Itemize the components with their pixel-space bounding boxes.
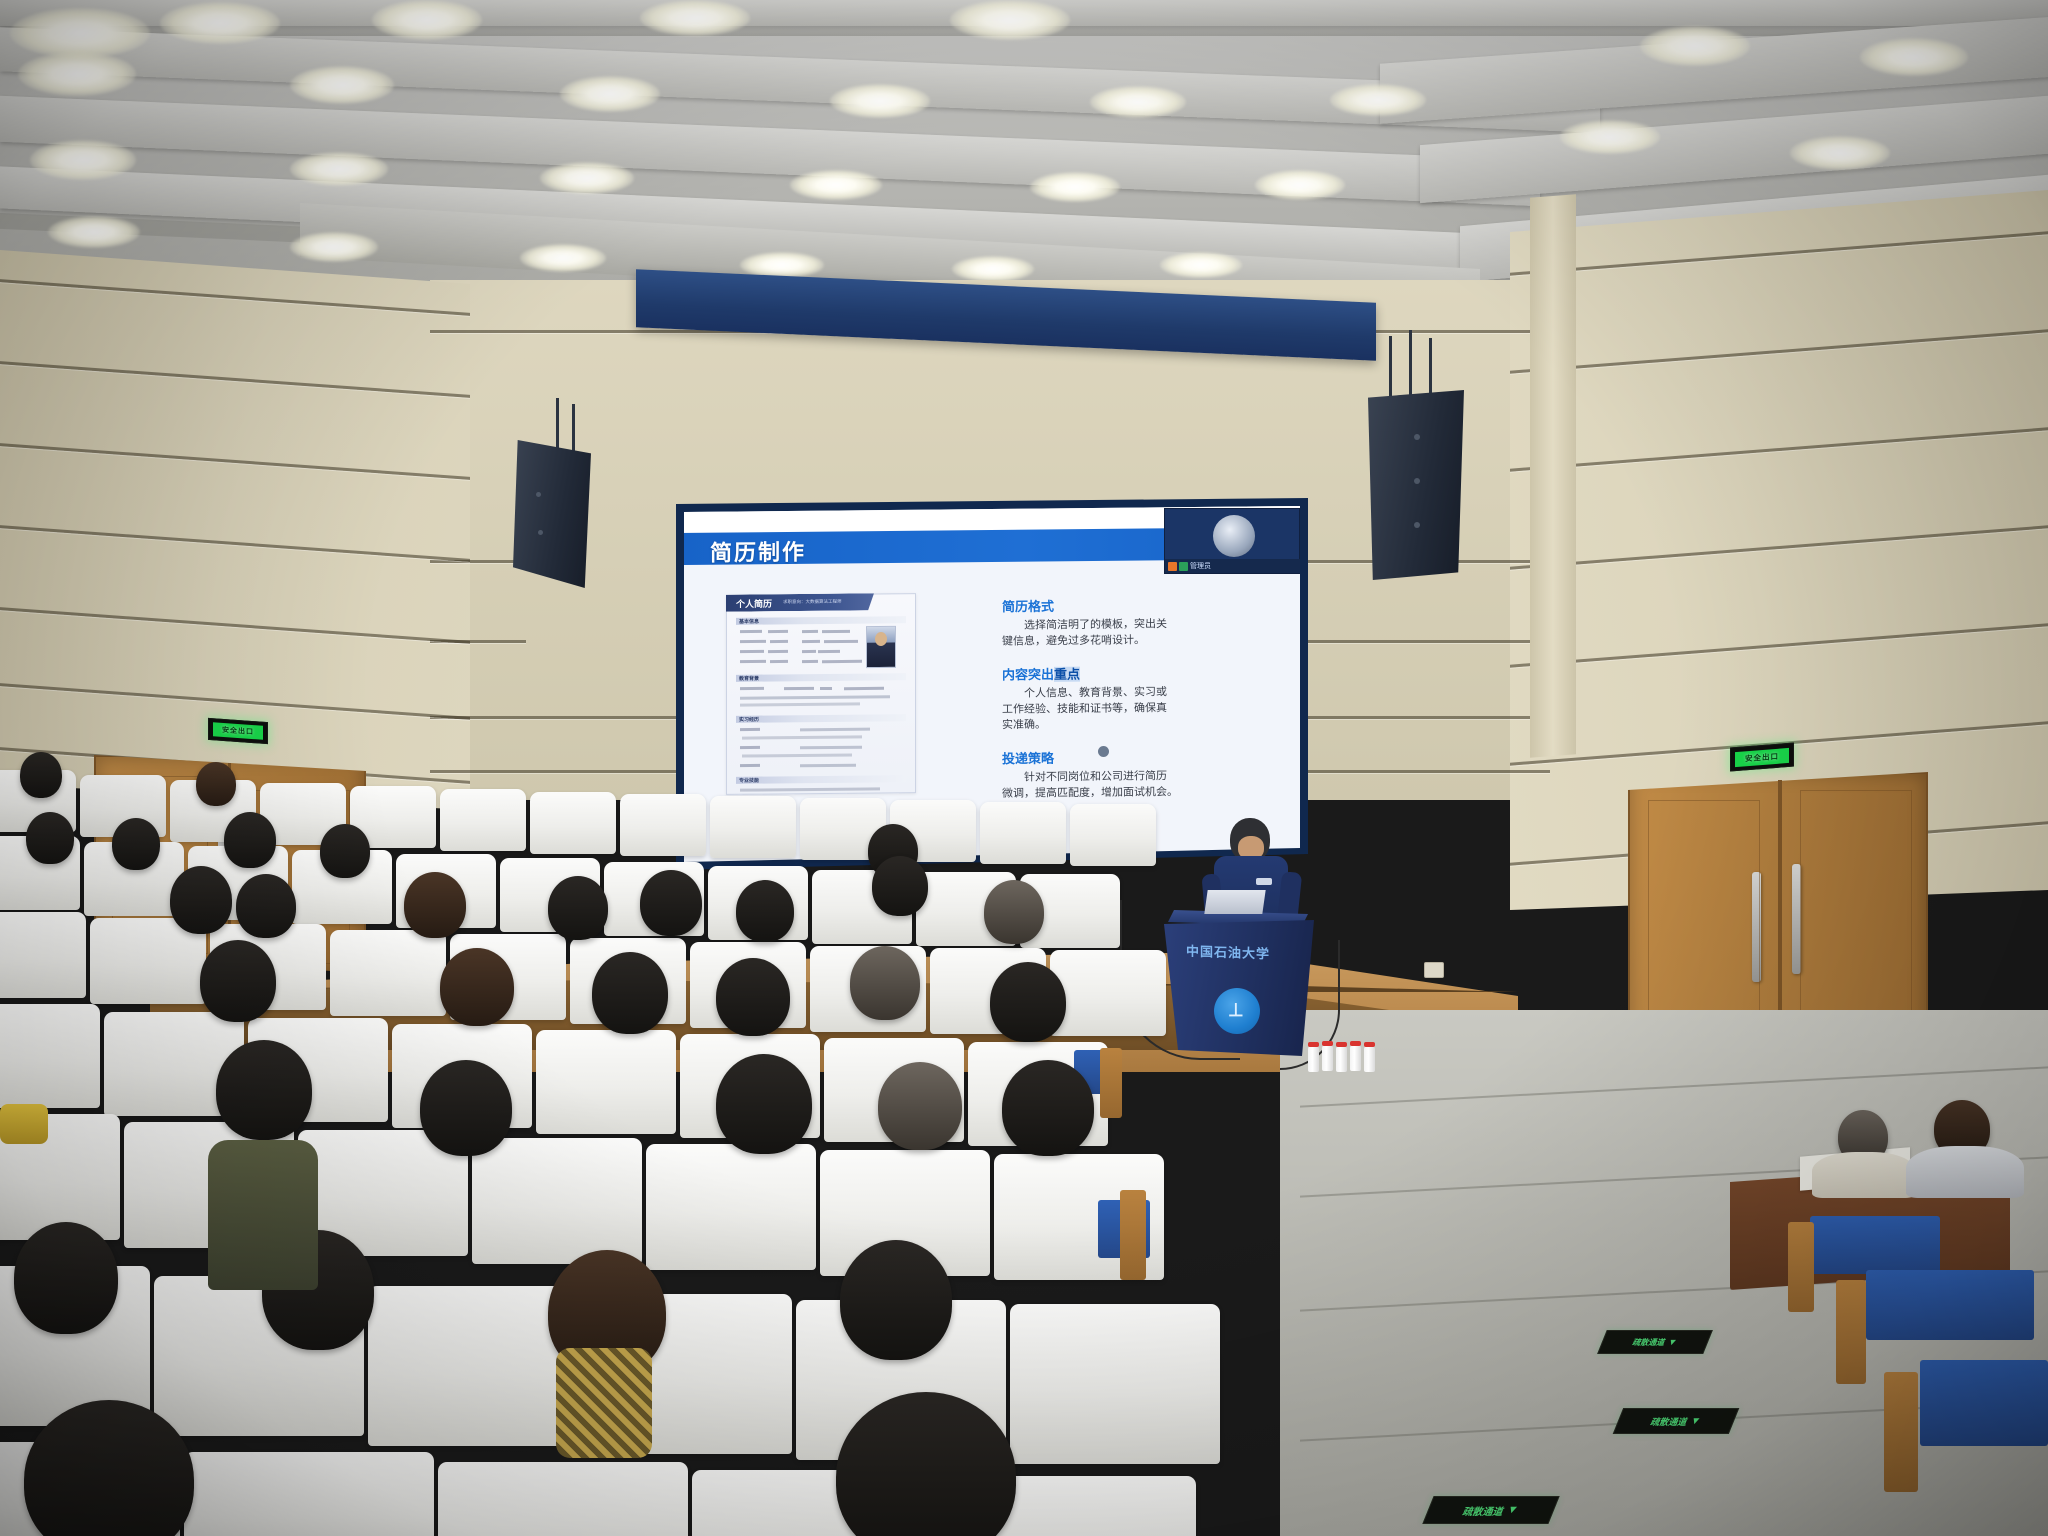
attendee-jacket-olive [208, 1140, 318, 1290]
ceiling-light [10, 8, 150, 58]
participant-avatar [1213, 515, 1255, 557]
floor-evacuation-sign-1: 疏散通道 ▼ [1597, 1330, 1713, 1354]
resume-text-line [820, 687, 832, 690]
resume-text-line [802, 660, 818, 663]
seat-armrest [1100, 1048, 1122, 1118]
seat-cover [710, 796, 796, 858]
seat-cover [472, 1138, 642, 1264]
ceiling-light [372, 0, 482, 40]
participant-name: 管理员 [1190, 561, 1211, 571]
attendee-head [990, 962, 1066, 1042]
speaker-antenna [1389, 336, 1392, 398]
attendee-head [1002, 1060, 1094, 1156]
exit-sign-right: 安全出口 [1730, 743, 1794, 772]
resume-text-line [802, 630, 818, 633]
ceiling-light [290, 66, 394, 104]
slide-body-2-line-1: 个人信息、教育背景、实习或 [1002, 683, 1167, 701]
ceiling-light [48, 216, 140, 248]
resume-card-header-sub: 求职意向：大数据算法工程师 [783, 599, 842, 606]
slide-body-2-line-3: 实准确。 [1002, 716, 1046, 732]
attendee-head [320, 824, 370, 878]
speaker-antenna [1409, 330, 1412, 398]
seat-cover [530, 792, 616, 854]
door-right-panel [1800, 790, 1912, 1042]
speaker-dot [536, 492, 541, 497]
resume-text-line [822, 660, 862, 663]
ceiling-light [1860, 38, 1968, 76]
attendee-head [236, 874, 296, 938]
resume-text-line [740, 660, 766, 663]
attendee-head [640, 870, 702, 936]
speaker-antenna [1429, 338, 1432, 398]
attendee-head [736, 880, 794, 942]
slide-body-2-line-2: 工作经验、技能和证书等，确保真 [1002, 699, 1167, 717]
resume-section-label: 教育背景 [739, 674, 759, 681]
speaker-dot [1414, 478, 1420, 484]
ceiling-light [830, 84, 930, 118]
slide-heading-2-highlight: 重点 [1054, 667, 1080, 682]
attendee-head [420, 1060, 512, 1156]
arrow-down-icon: ▼ [1666, 1337, 1679, 1347]
bottle-cap [1364, 1042, 1375, 1047]
wall-pilaster [1530, 194, 1576, 758]
arrow-down-icon: ▼ [1688, 1416, 1702, 1427]
video-conference-overlay: 管理员 [1164, 508, 1300, 574]
attendee-head [224, 812, 276, 868]
ceiling-light [520, 244, 606, 272]
ceiling-light [640, 0, 750, 36]
attendee-head [196, 762, 236, 806]
ceiling-light [1030, 172, 1120, 202]
resume-photo-head [875, 632, 887, 646]
slide-body-3-line-1: 针对不同岗位和公司进行简历 [1002, 767, 1167, 785]
slide-title: 简历制作 [710, 535, 806, 568]
ceiling-light [1255, 170, 1345, 200]
speaker-dot [1414, 522, 1420, 528]
seat-cover [1070, 804, 1156, 866]
loudspeaker-right [1368, 390, 1464, 580]
floor-evacuation-sign-3: 疏散通道 ▼ [1422, 1496, 1559, 1524]
seat-cover [438, 1462, 688, 1536]
attendee-head [878, 1062, 962, 1150]
water-bottle [1350, 1045, 1361, 1071]
resume-section-label: 专业技能 [739, 776, 759, 783]
slide-heading-1: 简历格式 [1002, 596, 1054, 615]
side-seat-arm [1884, 1372, 1918, 1492]
resume-text-line [740, 728, 760, 731]
exit-sign-right-label: 安全出口 [1735, 747, 1789, 766]
presenter-laptop [1204, 890, 1265, 914]
side-seat-arm [1788, 1222, 1814, 1312]
seat-cover [330, 930, 446, 1016]
side-seat-arm [1836, 1280, 1866, 1384]
video-overlay-toolbar[interactable]: 管理员 [1165, 559, 1300, 573]
loudspeaker-left [513, 440, 591, 588]
attendee-head [548, 876, 608, 940]
attendee-head [440, 948, 514, 1026]
ceiling-light [1640, 26, 1750, 66]
slide-heading-3: 投递策略 [1002, 748, 1054, 767]
seat-cover [440, 789, 526, 851]
attendee-head [26, 812, 74, 864]
ceiling-light [1160, 252, 1242, 278]
arrow-down-icon: ▼ [1505, 1504, 1521, 1516]
attendee-head [112, 818, 160, 870]
seat-cover [0, 1004, 100, 1108]
seat-armrest [1120, 1190, 1146, 1280]
podium-university-name: 中国石油大学 [1186, 941, 1270, 963]
seat-cover [368, 1286, 578, 1446]
slide-body-3-line-2: 微调，提高匹配度，增加面试机会。 [1002, 783, 1178, 801]
remote-cursor-avatar [1098, 746, 1109, 757]
slide-body-1-line-1: 选择简洁明了的模板，突出关 [1002, 615, 1167, 633]
attendee-head [20, 752, 62, 798]
ceiling-light [1560, 120, 1660, 154]
bottle-cap [1350, 1041, 1361, 1046]
resume-text-line [740, 640, 766, 643]
resume-text-line [740, 650, 764, 653]
resume-section-label: 基本信息 [739, 617, 759, 624]
attendee-head [200, 940, 276, 1022]
floor-evacuation-sign-1-label: 疏散通道 [1631, 1337, 1667, 1348]
resume-text-line [770, 660, 788, 663]
speaker-antenna [556, 398, 559, 454]
ceiling-light [290, 152, 388, 186]
ceiling-light [950, 0, 1070, 40]
lecture-hall-photo: 简历制作 个人简历 求职意向：大数据算法工程师 基本信息 教育背景 [0, 0, 2048, 1536]
speaker-antenna [572, 404, 575, 454]
exit-sign-left: 安全出口 [208, 718, 268, 744]
attendee-hood-yellow [0, 1104, 48, 1144]
slide-heading-2-text: 内容突出 [1002, 667, 1054, 682]
exit-sign-left-label: 安全出口 [213, 722, 263, 739]
seat-cover [620, 794, 706, 856]
seat-cover [184, 1452, 434, 1536]
water-bottles [1308, 1040, 1388, 1074]
attendee-shoulders-side-2 [1906, 1146, 2024, 1198]
wall-power-socket [1424, 962, 1444, 978]
attendee-head [850, 946, 920, 1020]
ceiling-light [290, 232, 378, 262]
resume-text-line [740, 746, 760, 749]
resume-text-line [802, 650, 816, 653]
seat-cover [1010, 1304, 1220, 1464]
ceiling-light [1090, 86, 1186, 118]
attendee-head [216, 1040, 312, 1140]
resume-text-line [768, 630, 788, 633]
ceiling-light [18, 52, 136, 96]
ceiling-light [952, 256, 1034, 282]
water-bottle [1364, 1046, 1375, 1072]
attendee-head [592, 952, 668, 1034]
attendee-head [404, 872, 466, 938]
resume-card-header-title: 个人简历 [736, 597, 772, 610]
bottle-cap [1322, 1041, 1333, 1046]
water-bottle [1322, 1045, 1333, 1071]
resume-text-line [844, 687, 884, 690]
attendee-head [716, 958, 790, 1036]
resume-text-line [740, 630, 762, 633]
seat-cover [536, 1030, 676, 1134]
ceiling-light [1790, 136, 1890, 170]
side-seat-blue [1810, 1216, 1940, 1274]
bottle-cap [1308, 1042, 1319, 1047]
podium-logo-glyph: ⊥ [1228, 1000, 1244, 1021]
seat-cover [646, 1144, 816, 1270]
ceiling-light [1330, 84, 1426, 116]
speaker-dot [538, 530, 543, 535]
slide-body-1-line-2: 键信息，避免过多花哨设计。 [1002, 631, 1145, 648]
floor-evacuation-sign-2-label: 疏散通道 [1649, 1415, 1690, 1428]
resume-text-line [770, 640, 788, 643]
attendee-shoulders-side-1 [1812, 1152, 1916, 1198]
attendee-head [984, 880, 1044, 944]
ceiling-light [540, 162, 634, 194]
attendee-head [840, 1240, 952, 1360]
wall-groove [1290, 640, 1550, 643]
resume-text-line [822, 630, 850, 633]
seat-cover [0, 912, 86, 998]
water-bottle [1336, 1046, 1347, 1072]
speaker-dot [1414, 434, 1420, 440]
water-bottle [1308, 1046, 1319, 1072]
floor-evacuation-sign-2: 疏散通道 ▼ [1613, 1408, 1740, 1434]
attendee-head [14, 1222, 118, 1334]
screen-share-icon[interactable] [1179, 562, 1188, 571]
bottle-cap [1336, 1042, 1347, 1047]
slide-heading-2: 内容突出重点 [1002, 664, 1080, 684]
attendee-head [872, 856, 928, 916]
resume-text-line [824, 640, 858, 643]
resume-text-line [740, 687, 764, 690]
attendee-patterned-top [556, 1348, 652, 1458]
seat-cover [1050, 950, 1166, 1036]
attendee-head [716, 1054, 812, 1154]
resume-text-line [740, 764, 760, 767]
microphone-icon[interactable] [1168, 562, 1177, 571]
ceiling-light [560, 76, 660, 112]
resume-text-line [784, 687, 814, 690]
side-seat-blue [1866, 1270, 2034, 1340]
slide-heading-3-text: 投递策略 [1002, 751, 1054, 766]
attendee-head [170, 866, 232, 934]
slide-heading-1-text: 简历格式 [1002, 599, 1054, 614]
resume-text-line [768, 650, 788, 653]
seat-cover [980, 802, 1066, 864]
ceiling-light [160, 2, 280, 44]
resume-section-label: 实习经历 [739, 715, 759, 722]
resume-text-line [802, 640, 820, 643]
presenter-jacket-logo [1256, 878, 1272, 885]
ceiling-light [30, 140, 136, 180]
resume-text-line [818, 650, 840, 653]
side-seat-blue [1920, 1360, 2048, 1446]
floor-evacuation-sign-3-label: 疏散通道 [1461, 1503, 1507, 1518]
ceiling-light [790, 170, 882, 200]
